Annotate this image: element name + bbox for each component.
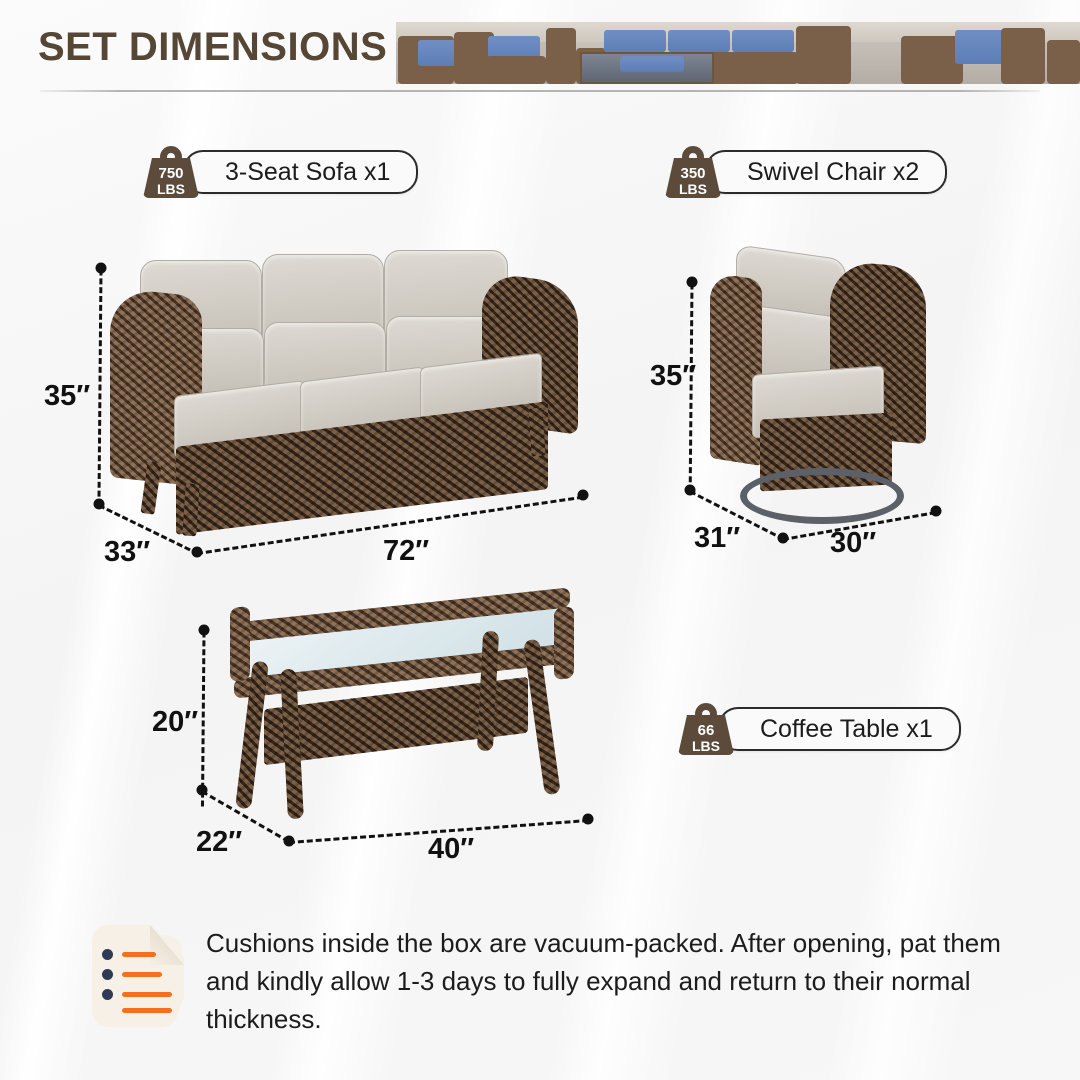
photo-wicker-side [1047, 40, 1080, 84]
weight-text: 350 LBS [665, 166, 721, 196]
weight-text: 750 LBS [143, 166, 199, 196]
item-label-sofa[interactable]: 3-Seat Sofa x1 [183, 150, 418, 194]
table-depth-label: 22″ [196, 826, 242, 859]
badge-row-chair: 350 LBS Swivel Chair x2 [665, 146, 947, 198]
weight-icon-sofa: 750 LBS [143, 146, 199, 198]
photo-thumb-chair-right [851, 22, 1080, 84]
item-label-table[interactable]: Coffee Table x1 [718, 707, 961, 751]
sofa-depth-label: 33″ [104, 536, 150, 569]
table-height-dot-top [199, 625, 210, 636]
weight-value: 350 [665, 166, 721, 181]
table-width-label: 40″ [428, 833, 474, 866]
badge-row-table: 66 LBS Coffee Table x1 [678, 703, 961, 755]
note-block: Cushions inside the box are vacuum-packe… [88, 925, 1006, 1039]
photo-wicker-chair [901, 36, 963, 84]
item-label-chair[interactable]: Swivel Chair x2 [705, 150, 947, 194]
note-bullet [102, 969, 113, 980]
photo-thumb-chairs [396, 22, 576, 84]
photo-blue-cushion [604, 30, 666, 52]
photo-wicker-arm [1001, 28, 1045, 84]
note-line [122, 1008, 172, 1013]
header-divider [40, 90, 1040, 92]
weight-icon-chair: 350 LBS [665, 146, 721, 198]
sofa-width-label: 72″ [383, 535, 429, 568]
chair-depth-label: 31″ [694, 522, 740, 555]
weight-unit: LBS [665, 182, 721, 196]
note-bullet [102, 949, 113, 960]
note-line [122, 972, 162, 977]
table-frame-right [554, 606, 574, 680]
weight-text: 66 LBS [678, 723, 734, 753]
photo-blue-cushion [955, 30, 1007, 64]
note-line [122, 952, 156, 957]
chair-height-label: 35″ [650, 360, 696, 393]
note-bullet [102, 989, 113, 1000]
table-height-label: 20″ [152, 706, 198, 739]
photo-blue-cushion [418, 40, 458, 66]
infographic-page: SET DIMENSIONS [0, 0, 1080, 1080]
sofa-height-label: 35″ [44, 380, 90, 413]
product-image-sofa [110, 248, 580, 538]
weight-unit: LBS [143, 182, 199, 196]
chair-width-dot [931, 506, 942, 517]
product-photo-strip [396, 22, 1080, 84]
note-line [122, 992, 172, 997]
table-height-line [201, 631, 206, 806]
sofa-width-dot [578, 490, 589, 501]
note-list-icon [88, 925, 184, 1033]
sofa-height-dot-top [96, 263, 107, 274]
badge-row-sofa: 750 LBS 3-Seat Sofa x1 [143, 146, 418, 198]
product-image-chair [700, 252, 940, 520]
weight-value: 66 [678, 723, 734, 738]
photo-blue-cushion [732, 30, 794, 52]
chair-swivel-base [740, 468, 904, 524]
note-text: Cushions inside the box are vacuum-packe… [206, 925, 1006, 1039]
weight-icon-table: 66 LBS [678, 703, 734, 755]
weight-value: 750 [143, 166, 199, 181]
photo-blue-reflection [620, 56, 684, 72]
sofa-height-line [97, 269, 102, 505]
photo-thumb-sofa-table [576, 22, 851, 84]
photo-wicker-base [486, 56, 546, 84]
weight-unit: LBS [678, 739, 734, 753]
photo-wicker-right [796, 26, 851, 84]
chair-width-label: 30″ [830, 527, 876, 560]
table-width-dot [583, 814, 594, 825]
chair-height-dot-top [687, 277, 698, 288]
page-title: SET DIMENSIONS [38, 25, 387, 70]
photo-wicker-side [546, 28, 576, 84]
photo-blue-cushion [668, 30, 730, 52]
product-image-table [222, 605, 586, 840]
table-frame-left [230, 606, 250, 682]
